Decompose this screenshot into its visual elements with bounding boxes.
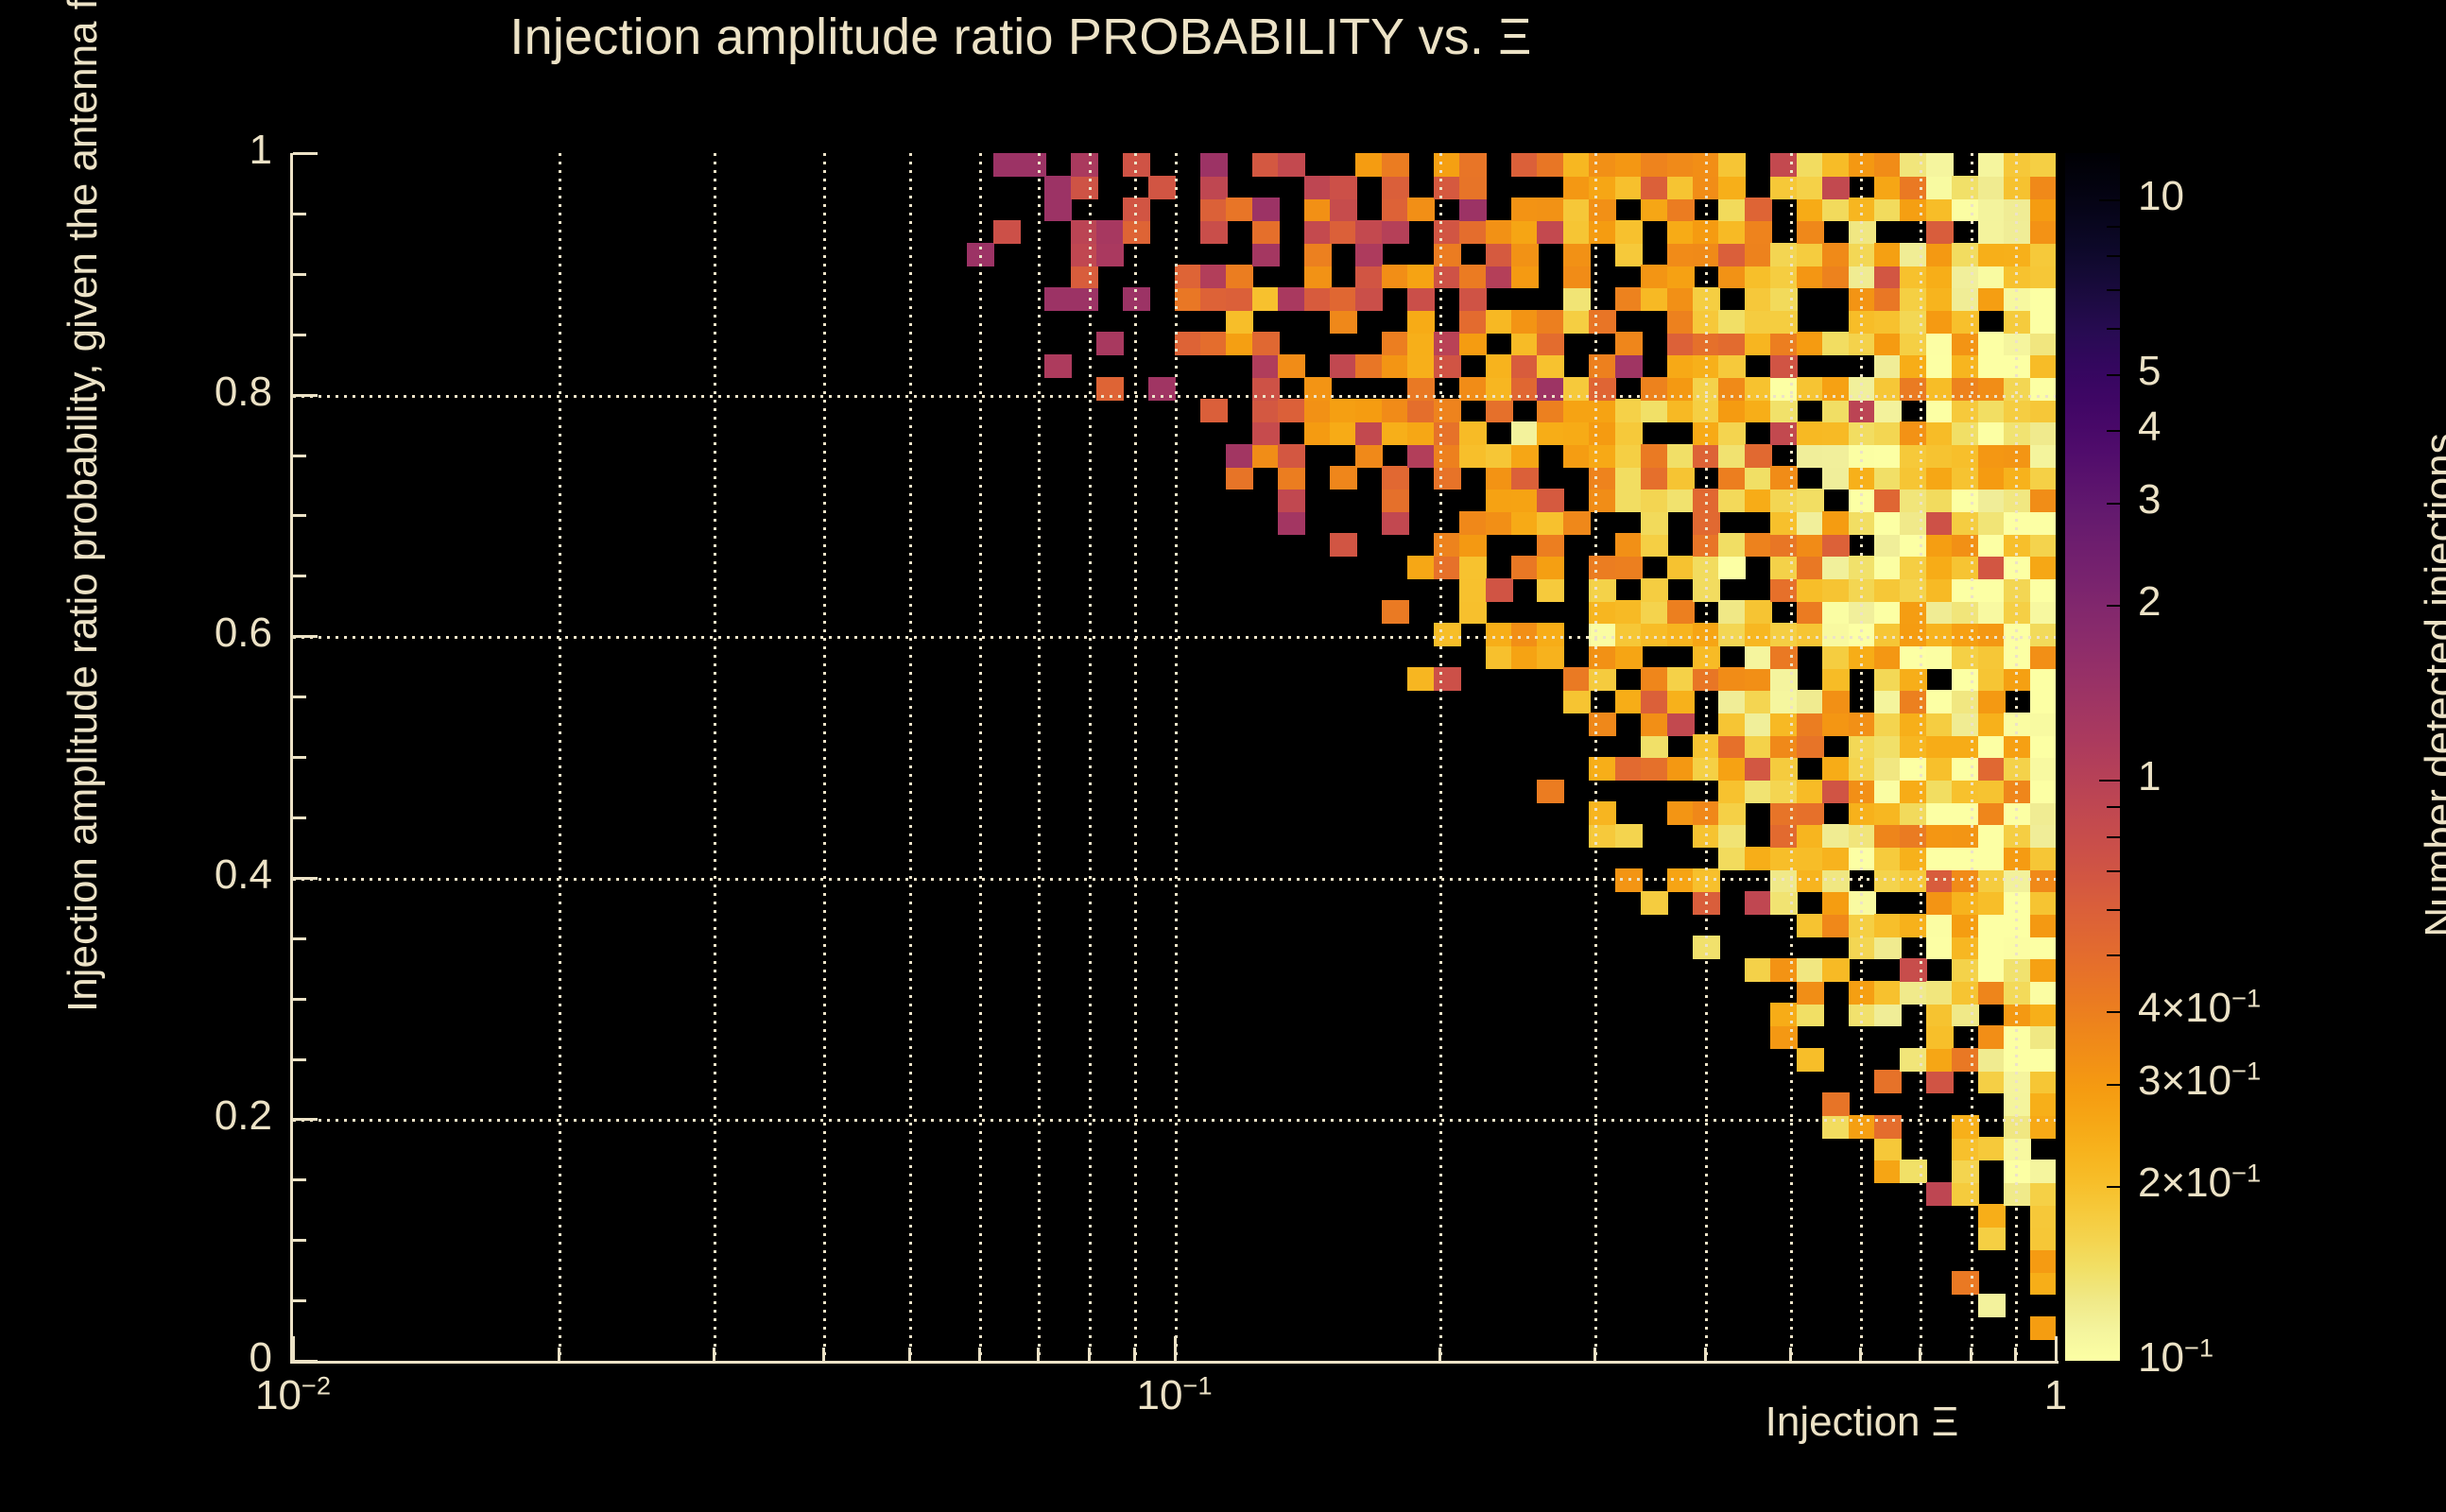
heatmap-cell bbox=[2004, 958, 2031, 982]
x-tick-label: 10−1 bbox=[1090, 1372, 1260, 1419]
heatmap-cell bbox=[1407, 399, 1435, 422]
heatmap-cell bbox=[1952, 265, 1979, 288]
heatmap-cell bbox=[1874, 623, 1902, 646]
heatmap-cell bbox=[1900, 421, 1927, 445]
heatmap-cell bbox=[1874, 332, 1902, 355]
heatmap-cell bbox=[1978, 354, 2006, 378]
heatmap-cell bbox=[1874, 780, 1902, 803]
heatmap-cell bbox=[1822, 265, 1850, 288]
colorbar-tick bbox=[2107, 909, 2120, 911]
heatmap-cell bbox=[1589, 444, 1616, 468]
heatmap-cell bbox=[1952, 645, 1979, 669]
heatmap-cell bbox=[1693, 936, 1720, 959]
heatmap-cell bbox=[1900, 981, 1927, 1005]
heatmap-cell bbox=[1822, 667, 1850, 691]
heatmap-cell bbox=[1486, 265, 1513, 288]
heatmap-cell bbox=[2004, 645, 2031, 669]
heatmap-cell bbox=[1537, 511, 1564, 535]
heatmap-cell bbox=[1355, 243, 1383, 266]
heatmap-cell bbox=[1900, 153, 1927, 177]
heatmap-cell bbox=[1641, 690, 1668, 713]
heatmap-cell bbox=[1874, 354, 1902, 378]
heatmap-cell bbox=[1797, 511, 1824, 535]
heatmap-cell bbox=[2030, 354, 2056, 378]
heatmap-cell bbox=[1926, 511, 1954, 535]
heatmap-cell bbox=[1745, 489, 1772, 512]
heatmap-cell bbox=[1952, 713, 1979, 736]
heatmap-cell bbox=[1978, 958, 2006, 982]
heatmap-cell bbox=[1900, 914, 1927, 937]
heatmap-cell bbox=[1434, 466, 1461, 490]
colorbar-tick bbox=[2107, 870, 2120, 872]
heatmap-cell bbox=[1511, 354, 1539, 378]
heatmap-cell bbox=[1693, 399, 1720, 422]
heatmap-cell bbox=[1797, 578, 1824, 602]
colorbar-tick-label: 4 bbox=[2138, 404, 2161, 451]
heatmap-cell bbox=[1486, 243, 1513, 266]
heatmap-cell bbox=[1718, 243, 1746, 266]
heatmap-cell bbox=[1900, 198, 1927, 221]
heatmap-cell bbox=[1849, 489, 1876, 512]
heatmap-cell bbox=[1718, 198, 1746, 221]
heatmap-cell bbox=[1978, 757, 2006, 781]
heatmap-cell bbox=[1978, 243, 2006, 266]
heatmap-cell bbox=[1330, 198, 1357, 221]
colorbar-tick-label: 4×10−1 bbox=[2138, 985, 2261, 1032]
heatmap-cell bbox=[1797, 332, 1824, 355]
heatmap-cell bbox=[1978, 220, 2006, 244]
heatmap-cell bbox=[1123, 220, 1150, 244]
heatmap-cell bbox=[1900, 176, 1927, 199]
heatmap-cell bbox=[1849, 914, 1876, 937]
heatmap-cell bbox=[1874, 198, 1902, 221]
heatmap-cell bbox=[1615, 153, 1643, 177]
heatmap-cell bbox=[1849, 153, 1876, 177]
heatmap-cell bbox=[1304, 176, 1332, 199]
heatmap-cell bbox=[1822, 176, 1850, 199]
heatmap-cell bbox=[1900, 757, 1927, 781]
heatmap-cell bbox=[1797, 421, 1824, 445]
colorbar-tick bbox=[2099, 780, 2120, 782]
heatmap-cell bbox=[1615, 243, 1643, 266]
heatmap-cell bbox=[1693, 511, 1720, 535]
heatmap-cell bbox=[2030, 936, 2056, 959]
heatmap-cell bbox=[1770, 891, 1798, 915]
heatmap-cell bbox=[1952, 489, 1979, 512]
heatmap-cell bbox=[1226, 310, 1253, 334]
heatmap-cell bbox=[1900, 377, 1927, 401]
heatmap-cell bbox=[2030, 511, 2056, 535]
heatmap-cell bbox=[1667, 623, 1695, 646]
heatmap-cell bbox=[1355, 399, 1383, 422]
x-minor-tick bbox=[713, 1348, 715, 1361]
heatmap-cell bbox=[2030, 243, 2056, 266]
heatmap-cell bbox=[1486, 489, 1513, 512]
heatmap-cell bbox=[1382, 421, 1409, 445]
heatmap-cell bbox=[1978, 667, 2006, 691]
heatmap-cell bbox=[2030, 713, 2056, 736]
colorbar-tick bbox=[2107, 328, 2120, 330]
heatmap-cell bbox=[1200, 176, 1228, 199]
heatmap-cell bbox=[1900, 623, 1927, 646]
heatmap-cell bbox=[1667, 667, 1695, 691]
heatmap-cell bbox=[1874, 801, 1902, 825]
heatmap-cell bbox=[1330, 354, 1357, 378]
x-minor-tick bbox=[1088, 1348, 1091, 1361]
heatmap-cell bbox=[1874, 176, 1902, 199]
heatmap-cell bbox=[1952, 914, 1979, 937]
heatmap-cell bbox=[1434, 332, 1461, 355]
heatmap-cell bbox=[1278, 466, 1305, 490]
heatmap-cell bbox=[1874, 1137, 1902, 1160]
heatmap-cell bbox=[1718, 600, 1746, 624]
heatmap-cell bbox=[1822, 600, 1850, 624]
heatmap-cell bbox=[1952, 690, 1979, 713]
heatmap-cell bbox=[1718, 310, 1746, 334]
heatmap-cell bbox=[1718, 332, 1746, 355]
heatmap-cell bbox=[1589, 466, 1616, 490]
heatmap-cell bbox=[2030, 377, 2056, 401]
heatmap-cell bbox=[1770, 399, 1798, 422]
x-minor-tick bbox=[1593, 1348, 1596, 1361]
heatmap-cell bbox=[1797, 690, 1824, 713]
heatmap-cell bbox=[1175, 287, 1202, 311]
heatmap-cell bbox=[1382, 600, 1409, 624]
heatmap-cell bbox=[1797, 1003, 1824, 1026]
heatmap-cell bbox=[1874, 377, 1902, 401]
heatmap-cell bbox=[1667, 466, 1695, 490]
heatmap-cell bbox=[1459, 556, 1487, 579]
heatmap-cell bbox=[1589, 354, 1616, 378]
heatmap-cell bbox=[1900, 243, 1927, 266]
heatmap-cell bbox=[1797, 533, 1824, 557]
heatmap-cell bbox=[1978, 176, 2006, 199]
heatmap-cell bbox=[1978, 1070, 2006, 1093]
x-minor-tick bbox=[908, 1348, 911, 1361]
heatmap-cell bbox=[1330, 399, 1357, 422]
heatmap-cell bbox=[1693, 421, 1720, 445]
heatmap-cell bbox=[1304, 421, 1332, 445]
heatmap-cell bbox=[1978, 981, 2006, 1005]
heatmap-cell bbox=[1382, 176, 1409, 199]
x-minor-tick bbox=[1704, 1348, 1707, 1361]
heatmap-cell bbox=[1563, 220, 1591, 244]
heatmap-cell bbox=[993, 220, 1021, 244]
heatmap-cell bbox=[1641, 511, 1668, 535]
heatmap-cell bbox=[1718, 556, 1746, 579]
heatmap-cell bbox=[1745, 310, 1772, 334]
heatmap-cell bbox=[1874, 667, 1902, 691]
heatmap-cell bbox=[1407, 444, 1435, 468]
heatmap-cell bbox=[1589, 153, 1616, 177]
heatmap-cell bbox=[1770, 533, 1798, 557]
heatmap-cell bbox=[1978, 153, 2006, 177]
heatmap-cell bbox=[1822, 914, 1850, 937]
colorbar-tick-label: 10 bbox=[2138, 173, 2184, 220]
heatmap-cell bbox=[2004, 489, 2031, 512]
heatmap-cell bbox=[1926, 734, 1954, 758]
heatmap-cell bbox=[1952, 1160, 1979, 1183]
heatmap-cell bbox=[1434, 399, 1461, 422]
heatmap-cell bbox=[1382, 332, 1409, 355]
heatmap-cell bbox=[1537, 220, 1564, 244]
heatmap-cell bbox=[2004, 421, 2031, 445]
heatmap-cell bbox=[1926, 713, 1954, 736]
heatmap-cell bbox=[1641, 176, 1668, 199]
heatmap-cell bbox=[1874, 645, 1902, 669]
heatmap-cell bbox=[1123, 198, 1150, 221]
heatmap-cell bbox=[1770, 847, 1798, 870]
heatmap-cell bbox=[1667, 176, 1695, 199]
heatmap-cell bbox=[1900, 824, 1927, 848]
heatmap-cell bbox=[1797, 600, 1824, 624]
heatmap-cell bbox=[2004, 981, 2031, 1005]
heatmap-cell bbox=[1978, 936, 2006, 959]
heatmap-cell bbox=[1252, 444, 1280, 468]
colorbar-tick bbox=[2107, 1186, 2120, 1188]
heatmap-cell bbox=[1900, 645, 1927, 669]
heatmap-cell bbox=[1537, 623, 1564, 646]
heatmap-cell bbox=[1770, 623, 1798, 646]
heatmap-cell bbox=[2004, 734, 2031, 758]
heatmap-cell bbox=[1797, 801, 1824, 825]
y-major-tick bbox=[293, 877, 318, 880]
heatmap-cell bbox=[1330, 287, 1357, 311]
heatmap-cell bbox=[2030, 1182, 2056, 1206]
heatmap-cell bbox=[1952, 243, 1979, 266]
heatmap-cell bbox=[1459, 578, 1487, 602]
heatmap-cell bbox=[1278, 489, 1305, 512]
heatmap-cell bbox=[1745, 847, 1772, 870]
heatmap-cell bbox=[1745, 444, 1772, 468]
heatmap-cell bbox=[2004, 1025, 2031, 1049]
heatmap-cell bbox=[1486, 444, 1513, 468]
colorbar-tick bbox=[2107, 1011, 2120, 1013]
heatmap-cell bbox=[2030, 868, 2056, 892]
heatmap-cell bbox=[1511, 489, 1539, 512]
heatmap-cell bbox=[2004, 936, 2031, 959]
y-minor-tick bbox=[293, 575, 306, 577]
heatmap-cell bbox=[1770, 1025, 1798, 1049]
heatmap-cell bbox=[1071, 176, 1098, 199]
heatmap-cell bbox=[1952, 198, 1979, 221]
heatmap-cell bbox=[1874, 578, 1902, 602]
heatmap-cell bbox=[2030, 847, 2056, 870]
heatmap-cell bbox=[2030, 780, 2056, 803]
heatmap-cell bbox=[1434, 556, 1461, 579]
heatmap-cell bbox=[1797, 1048, 1824, 1072]
heatmap-cell bbox=[1874, 1070, 1902, 1093]
heatmap-cell bbox=[1718, 533, 1746, 557]
heatmap-cell bbox=[1667, 332, 1695, 355]
heatmap-cell bbox=[1511, 623, 1539, 646]
heatmap-cell bbox=[2030, 332, 2056, 355]
heatmap-cell bbox=[1926, 623, 1954, 646]
colorbar-tick-label: 2 bbox=[2138, 578, 2161, 626]
heatmap-cell bbox=[1926, 801, 1954, 825]
heatmap-cell bbox=[1822, 399, 1850, 422]
heatmap-cell bbox=[1926, 690, 1954, 713]
heatmap-cell bbox=[1667, 243, 1695, 266]
y-tick-label: 1 bbox=[250, 127, 272, 174]
heatmap-plot-area bbox=[293, 153, 2056, 1361]
heatmap-cell bbox=[1252, 287, 1280, 311]
heatmap-cell bbox=[1952, 1115, 1979, 1139]
heatmap-cell bbox=[2030, 623, 2056, 646]
heatmap-cell bbox=[1718, 623, 1746, 646]
heatmap-cell bbox=[1252, 332, 1280, 355]
heatmap-cell bbox=[1641, 734, 1668, 758]
heatmap-cell bbox=[1874, 310, 1902, 334]
heatmap-cell bbox=[1797, 623, 1824, 646]
heatmap-cell bbox=[1849, 265, 1876, 288]
heatmap-cell bbox=[1874, 533, 1902, 557]
heatmap-cell bbox=[2030, 645, 2056, 669]
heatmap-cell bbox=[1304, 220, 1332, 244]
y-major-tick bbox=[293, 635, 318, 638]
heatmap-cell bbox=[1096, 377, 1124, 401]
heatmap-cell bbox=[1615, 690, 1643, 713]
heatmap-cell bbox=[1615, 824, 1643, 848]
heatmap-cell bbox=[1200, 265, 1228, 288]
heatmap-cell bbox=[1926, 354, 1954, 378]
heatmap-cell bbox=[2004, 1137, 2031, 1160]
x-minor-tick bbox=[1133, 1348, 1136, 1361]
heatmap-cell bbox=[1952, 600, 1979, 624]
heatmap-cell bbox=[2004, 1182, 2031, 1206]
heatmap-cell bbox=[1745, 600, 1772, 624]
heatmap-cell bbox=[1849, 1003, 1876, 1026]
heatmap-cell bbox=[1952, 958, 1979, 982]
heatmap-cell bbox=[1978, 399, 2006, 422]
heatmap-cell bbox=[1615, 399, 1643, 422]
heatmap-cell bbox=[2004, 914, 2031, 937]
heatmap-cell bbox=[1797, 824, 1824, 848]
heatmap-cell bbox=[2030, 421, 2056, 445]
heatmap-cell bbox=[1486, 623, 1513, 646]
heatmap-cell bbox=[1926, 176, 1954, 199]
heatmap-cell bbox=[1537, 332, 1564, 355]
heatmap-cell bbox=[1096, 220, 1124, 244]
heatmap-cell bbox=[1511, 198, 1539, 221]
heatmap-cell bbox=[2004, 801, 2031, 825]
heatmap-cell bbox=[1615, 332, 1643, 355]
heatmap-cell bbox=[1926, 556, 1954, 579]
heatmap-cell bbox=[1770, 153, 1798, 177]
y-minor-tick bbox=[293, 1058, 306, 1061]
heatmap-cell bbox=[1849, 801, 1876, 825]
heatmap-cell bbox=[1330, 220, 1357, 244]
heatmap-cell bbox=[2030, 399, 2056, 422]
heatmap-cell bbox=[1693, 824, 1720, 848]
heatmap-cell bbox=[1874, 914, 1902, 937]
heatmap-cell bbox=[1641, 444, 1668, 468]
heatmap-cell bbox=[1952, 801, 1979, 825]
heatmap-cell bbox=[1874, 287, 1902, 311]
heatmap-cell bbox=[1978, 824, 2006, 848]
heatmap-cell bbox=[1926, 600, 1954, 624]
heatmap-cell bbox=[1382, 354, 1409, 378]
heatmap-cell bbox=[1200, 332, 1228, 355]
heatmap-cell bbox=[1745, 198, 1772, 221]
heatmap-cell bbox=[1900, 667, 1927, 691]
y-major-tick bbox=[293, 394, 318, 397]
heatmap-cell bbox=[1745, 713, 1772, 736]
heatmap-cell bbox=[1718, 847, 1746, 870]
heatmap-cell bbox=[1459, 332, 1487, 355]
heatmap-cell bbox=[1718, 377, 1746, 401]
heatmap-cell bbox=[1071, 243, 1098, 266]
heatmap-cell bbox=[1304, 198, 1332, 221]
heatmap-cell bbox=[1615, 868, 1643, 892]
heatmap-cell bbox=[1718, 734, 1746, 758]
heatmap-cell bbox=[1797, 914, 1824, 937]
heatmap-cell bbox=[1926, 198, 1954, 221]
colorbar-tick bbox=[2107, 1084, 2120, 1086]
heatmap-cell bbox=[1693, 489, 1720, 512]
heatmap-cell bbox=[1952, 556, 1979, 579]
heatmap-cell bbox=[1641, 578, 1668, 602]
heatmap-cell bbox=[1770, 354, 1798, 378]
heatmap-cell bbox=[1511, 645, 1539, 669]
heatmap-cell bbox=[1511, 377, 1539, 401]
x-major-tick bbox=[2055, 1336, 2058, 1361]
heatmap-cell bbox=[1486, 220, 1513, 244]
heatmap-cell bbox=[1900, 556, 1927, 579]
colorbar-tick bbox=[2107, 226, 2120, 228]
heatmap-cell bbox=[1952, 421, 1979, 445]
heatmap-cell bbox=[1849, 511, 1876, 535]
heatmap-cell bbox=[1693, 287, 1720, 311]
colorbar-title: Number detected injections bbox=[2417, 213, 2446, 1158]
heatmap-cell bbox=[1718, 466, 1746, 490]
heatmap-cell bbox=[1071, 153, 1098, 177]
heatmap-cell bbox=[1849, 310, 1876, 334]
heatmap-cell bbox=[1745, 645, 1772, 669]
heatmap-cell bbox=[1952, 332, 1979, 355]
heatmap-cell bbox=[2004, 556, 2031, 579]
heatmap-cell bbox=[1849, 757, 1876, 781]
heatmap-cell bbox=[1849, 981, 1876, 1005]
heatmap-cell bbox=[1330, 466, 1357, 490]
heatmap-cell bbox=[1926, 824, 1954, 848]
heatmap-cell bbox=[1978, 377, 2006, 401]
heatmap-cell bbox=[1926, 444, 1954, 468]
heatmap-cell bbox=[1874, 153, 1902, 177]
heatmap-cell bbox=[1978, 600, 2006, 624]
heatmap-cell bbox=[2004, 153, 2031, 177]
heatmap-cell bbox=[2030, 1227, 2056, 1250]
heatmap-cell bbox=[1071, 220, 1098, 244]
heatmap-cell bbox=[1978, 466, 2006, 490]
heatmap-cell bbox=[1693, 533, 1720, 557]
heatmap-cell bbox=[1434, 421, 1461, 445]
heatmap-cell bbox=[1926, 1070, 1954, 1093]
heatmap-cell bbox=[1978, 891, 2006, 915]
heatmap-cell bbox=[2030, 824, 2056, 848]
colorbar-tick bbox=[2107, 954, 2120, 956]
heatmap-cell bbox=[1797, 958, 1824, 982]
heatmap-cell bbox=[1589, 220, 1616, 244]
heatmap-cell bbox=[1849, 600, 1876, 624]
heatmap-cell bbox=[2004, 377, 2031, 401]
heatmap-cell bbox=[1874, 936, 1902, 959]
heatmap-cell bbox=[1330, 533, 1357, 557]
heatmap-cell bbox=[1407, 287, 1435, 311]
heatmap-cell bbox=[1978, 801, 2006, 825]
heatmap-cell bbox=[2004, 824, 2031, 848]
heatmap-cell bbox=[1745, 891, 1772, 915]
